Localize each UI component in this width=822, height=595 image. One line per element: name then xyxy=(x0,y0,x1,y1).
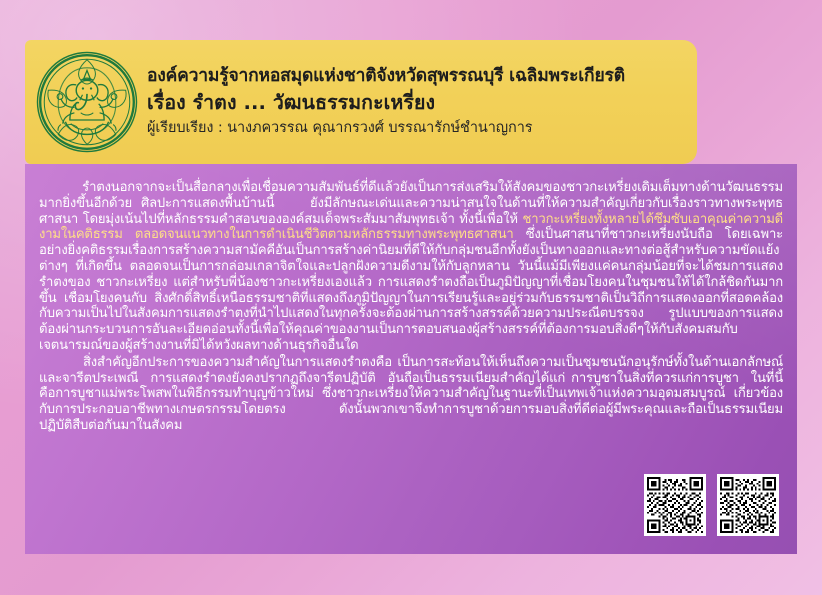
poster-canvas: องค์ความรู้จากหอสมุดแห่งชาติจังหวัดสุพรร… xyxy=(0,0,822,595)
paragraph-1: รำตงนอกจากจะเป็นสื่อกลางเพื่อเชื่อมความส… xyxy=(39,180,783,354)
content-panel: รำตงนอกจากจะเป็นสื่อกลางเพื่อเชื่อมความส… xyxy=(25,164,797,554)
ganesha-emblem xyxy=(33,48,141,156)
paragraph-1-part-2: ซึ่งเป็นศาสนาที่ชาวกะเหรี่ยงนับถือ โดยเฉ… xyxy=(39,227,783,353)
header-banner: องค์ความรู้จากหอสมุดแห่งชาติจังหวัดสุพรร… xyxy=(25,40,697,164)
header-author-line: ผู้เรียบเรียง : นางภควรรณ คุณากรวงศ์ บรร… xyxy=(147,117,687,140)
header-title-line2: เรื่อง รำตง ... วัฒนธรรมกะเหรี่ยง xyxy=(147,89,687,117)
qr-code-left[interactable] xyxy=(644,474,706,536)
paragraph-2: สิ่งสำคัญอีกประการของความสำคัญในการแสดงร… xyxy=(39,355,783,434)
qr-code-group xyxy=(644,474,779,536)
header-text-block: องค์ความรู้จากหอสมุดแห่งชาติจังหวัดสุพรร… xyxy=(147,63,697,140)
article-body: รำตงนอกจากจะเป็นสื่อกลางเพื่อเชื่อมความส… xyxy=(39,180,783,434)
header-title-line1: องค์ความรู้จากหอสมุดแห่งชาติจังหวัดสุพรร… xyxy=(147,65,687,89)
qr-code-right[interactable] xyxy=(717,474,779,536)
